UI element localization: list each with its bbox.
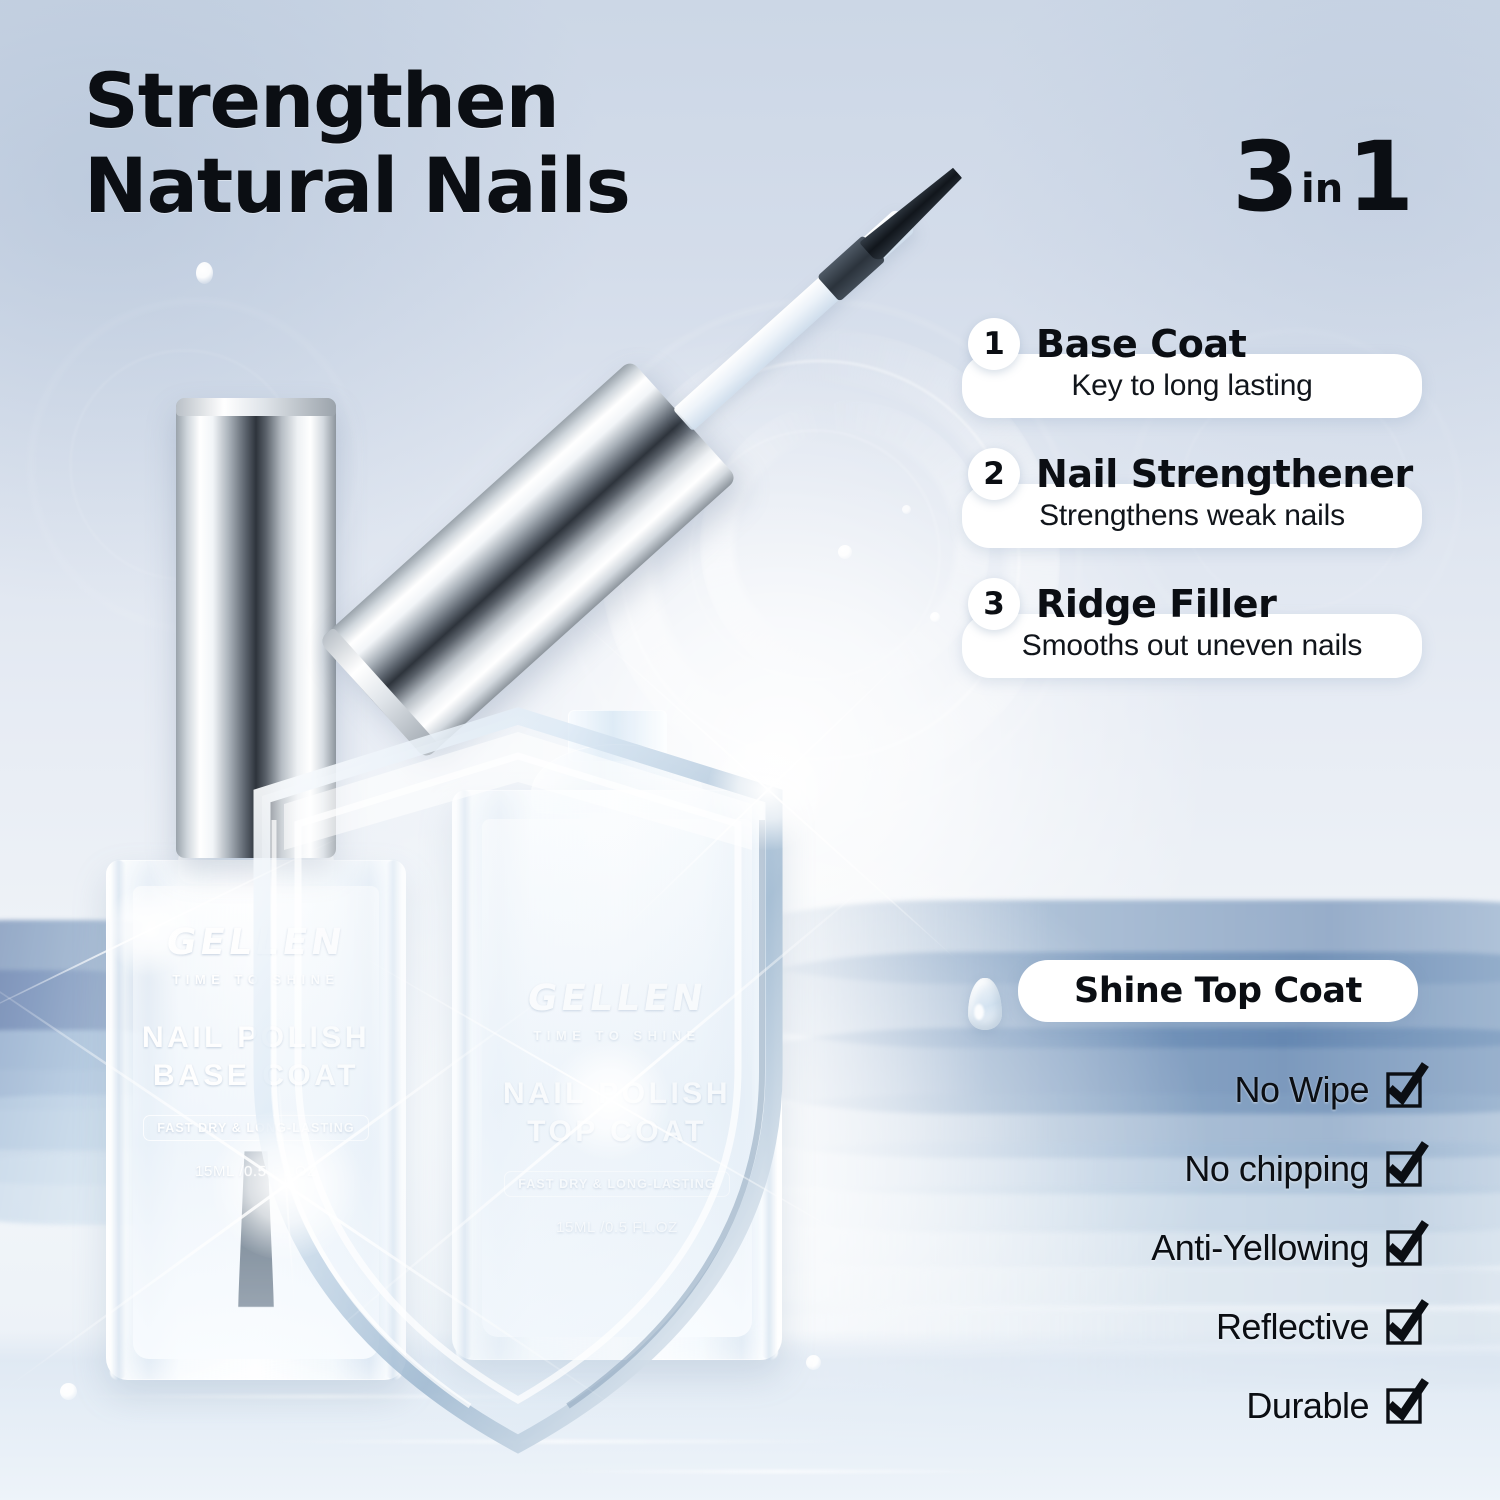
feature-number-badge: 2: [968, 448, 1020, 500]
checklist-item[interactable]: Reflective: [1020, 1287, 1420, 1366]
feature-number-badge: 3: [968, 578, 1020, 630]
feature-item-base-coat[interactable]: 1 Base Coat Key to long lasting: [962, 318, 1422, 418]
badge-in: in: [1297, 169, 1347, 219]
checkbox-checked-icon[interactable]: [1387, 1073, 1420, 1106]
topcoat-benefits-checklist: No Wipe No chipping Anti-Yellowing Refle…: [1020, 1050, 1420, 1445]
checklist-item[interactable]: Durable: [1020, 1366, 1420, 1445]
shine-top-coat-title: Shine Top Coat: [1018, 960, 1418, 1022]
feature-item-ridge-filler[interactable]: 3 Ridge Filler Smooths out uneven nails: [962, 578, 1422, 678]
feature-list: 1 Base Coat Key to long lasting 2 Nail S…: [962, 318, 1422, 708]
badge-one: 1: [1347, 136, 1412, 219]
checkbox-checked-icon[interactable]: [1387, 1152, 1420, 1185]
checklist-label: No chipping: [1184, 1148, 1369, 1190]
checklist-item[interactable]: Anti-Yellowing: [1020, 1208, 1420, 1287]
checklist-label: Durable: [1246, 1385, 1369, 1427]
feature-title: Base Coat: [1036, 322, 1246, 366]
feature-head: 1 Base Coat: [962, 318, 1422, 370]
checklist-item[interactable]: No chipping: [1020, 1129, 1420, 1208]
feature-title: Ridge Filler: [1036, 582, 1276, 626]
brush-wand: [673, 208, 916, 431]
feature-item-nail-strengthener[interactable]: 2 Nail Strengthener Strengthens weak nai…: [962, 448, 1422, 548]
checklist-label: Reflective: [1216, 1306, 1369, 1348]
checkbox-checked-icon[interactable]: [1387, 1231, 1420, 1264]
shield-icon: [238, 700, 798, 1460]
brush-bristles: [859, 162, 967, 263]
checkbox-checked-icon[interactable]: [1387, 1310, 1420, 1343]
three-in-one-badge: 3 in 1: [1232, 136, 1412, 219]
feature-title: Nail Strengthener: [1036, 452, 1413, 496]
badge-count: 3: [1232, 136, 1297, 219]
cap-top-upright: [176, 398, 336, 416]
checklist-label: Anti-Yellowing: [1151, 1227, 1369, 1269]
checkbox-checked-icon[interactable]: [1387, 1389, 1420, 1422]
checklist-label: No Wipe: [1234, 1069, 1369, 1111]
feature-head: 2 Nail Strengthener: [962, 448, 1422, 500]
checklist-item[interactable]: No Wipe: [1020, 1050, 1420, 1129]
feature-number-badge: 1: [968, 318, 1020, 370]
polish-droplet: [968, 978, 1002, 1030]
page-title: Strengthen Natural Nails: [84, 58, 630, 228]
shine-top-coat-section: Shine Top Coat: [1018, 960, 1418, 1022]
feature-head: 3 Ridge Filler: [962, 578, 1422, 630]
shield-overlay: [238, 700, 798, 1460]
